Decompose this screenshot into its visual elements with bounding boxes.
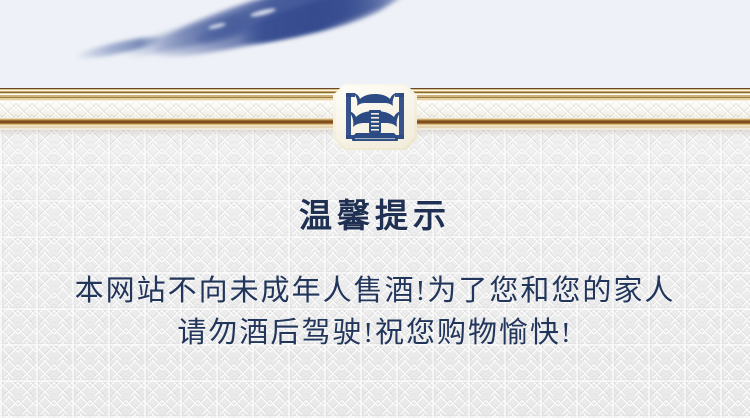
brand-badge <box>333 84 417 150</box>
notice-line-1: 本网站不向未成年人售酒!为了您和您的家人 <box>0 271 750 311</box>
pagoda-gate-logo-icon <box>344 89 406 145</box>
notice-banner: 温馨提示 本网站不向未成年人售酒!为了您和您的家人 请勿酒后驾驶!祝您购物愉快! <box>0 0 750 418</box>
header-sky <box>0 0 750 90</box>
notice-line-2: 请勿酒后驾驶!祝您购物愉快! <box>0 313 750 353</box>
page-title: 温馨提示 <box>0 196 750 238</box>
